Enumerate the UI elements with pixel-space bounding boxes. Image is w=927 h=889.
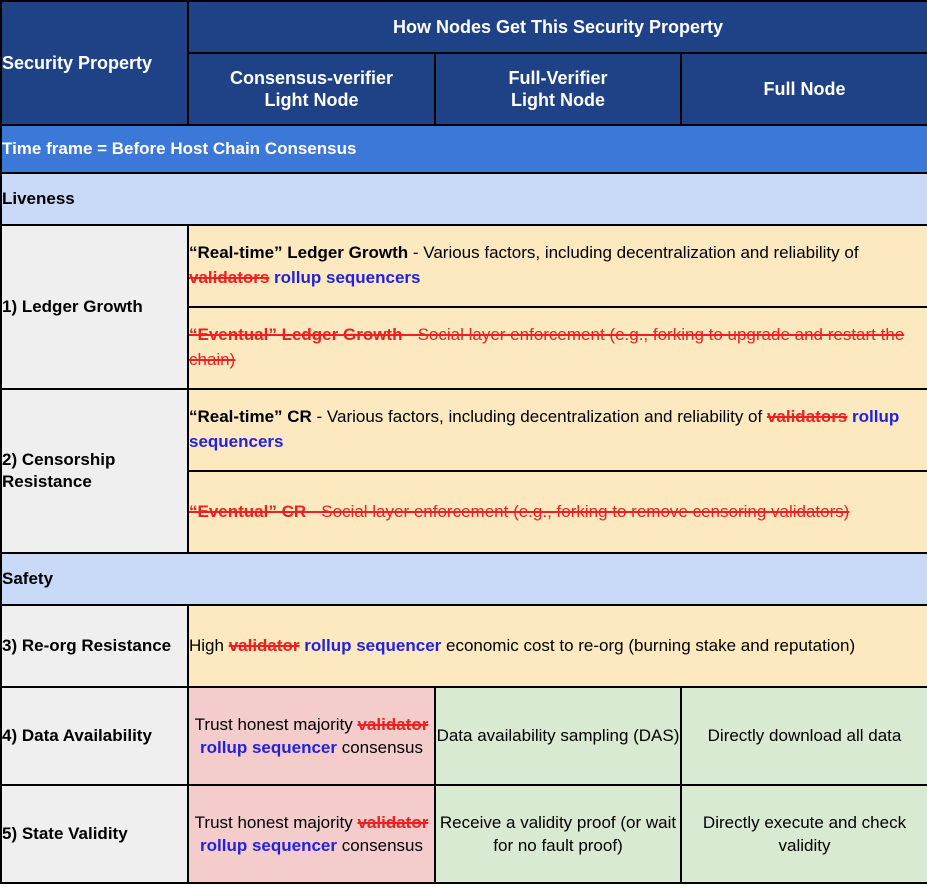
row-label-state-validity-text: 5) State Validity [2,824,128,843]
cell-censorship-eventual: “Eventual” CR - Social layer enforcement… [189,471,927,552]
band-safety-label: Safety [2,569,53,588]
row-label-data-availability-text: 4) Data Availability [2,726,152,745]
censorship-eventual-struck-block: “Eventual” CR - Social layer enforcement… [189,502,849,521]
band-row-timeframe: Time frame = Before Host Chain Consensus [1,125,927,173]
da-cv-post: consensus [337,738,423,757]
sv-cv-replacement: rollup sequencer [200,836,337,855]
table-row-state-validity: 5) State Validity Trust honest majority … [1,785,927,883]
header-col-full-node: Full Node [681,53,927,125]
ledger-growth-eventual-lead: “Eventual” Ledger Growth [189,325,402,344]
row-label-reorg-resistance: 3) Re-org Resistance [1,605,188,687]
table-row-ledger-growth: 1) Ledger Growth “Real-time” Ledger Grow… [1,225,927,389]
cell-ledger-growth-eventual: “Eventual” Ledger Growth - Social layer … [189,307,927,388]
header-col1-line2: Light Node [189,89,434,112]
band-timeframe: Time frame = Before Host Chain Consensus [1,125,927,173]
header-col2-line1: Full-Verifier [436,67,680,90]
header-security-property: Security Property [1,1,188,125]
row-label-ledger-growth-text: 1) Ledger Growth [2,297,143,316]
security-properties-table-root: Security Property How Nodes Get This Sec… [0,0,927,889]
reorg-post: economic cost to re-org (burning stake a… [441,636,855,655]
header-col1-line1: Consensus-verifier [189,67,434,90]
censorship-eventual-row: “Eventual” CR - Social layer enforcement… [189,471,927,552]
ledger-growth-realtime-lead: “Real-time” Ledger Growth [189,243,408,262]
cell-state-validity-full-node: Directly execute and check validity [681,785,927,883]
ledger-growth-realtime-replacement: rollup sequencers [274,268,420,287]
cell-state-validity-consensus-verifier: Trust honest majority validator rollup s… [188,785,435,883]
row-label-state-validity: 5) State Validity [1,785,188,883]
ledger-growth-eventual-struck-block: “Eventual” Ledger Growth - Social layer … [189,325,904,369]
table-row-reorg-resistance: 3) Re-org Resistance High validator roll… [1,605,927,687]
censorship-eventual-rest: - Social layer enforcement (e.g., forkin… [306,502,849,521]
ledger-growth-realtime-struck: validators [189,268,269,287]
table-row-censorship-resistance: 2) Censorship Resistance “Real-time” CR … [1,389,927,553]
cell-reorg-resistance-all-nodes: High validator rollup sequencer economic… [188,605,927,687]
row-label-data-availability: 4) Data Availability [1,687,188,785]
censorship-resistance-subtable: “Real-time” CR - Various factors, includ… [189,390,927,552]
header-col2-line2: Light Node [436,89,680,112]
band-liveness: Liveness [1,173,927,225]
cell-state-validity-full-verifier: Receive a validity proof (or wait for no… [435,785,681,883]
reorg-pre: High [189,636,229,655]
censorship-realtime-struck: validators [767,407,847,426]
cell-data-availability-full-verifier: Data availability sampling (DAS) [435,687,681,785]
cell-censorship-realtime: “Real-time” CR - Various factors, includ… [189,390,927,471]
censorship-realtime-lead: “Real-time” CR [189,407,312,426]
header-col-consensus-verifier-light-node: Consensus-verifier Light Node [188,53,435,125]
band-safety: Safety [1,553,927,605]
header-group-title-label: How Nodes Get This Security Property [393,17,723,37]
sv-cv-struck: validator [357,813,428,832]
band-liveness-label: Liveness [2,189,75,208]
cell-ledger-growth-realtime: “Real-time” Ledger Growth - Various fact… [189,226,927,307]
sv-cv-pre: Trust honest majority [195,813,358,832]
table-row-data-availability: 4) Data Availability Trust honest majori… [1,687,927,785]
reorg-replacement: rollup sequencer [304,636,441,655]
header-col-full-verifier-light-node: Full-Verifier Light Node [435,53,681,125]
da-cv-pre: Trust honest majority [195,715,358,734]
row-label-ledger-growth: 1) Ledger Growth [1,225,188,389]
ledger-growth-eventual-row: “Eventual” Ledger Growth - Social layer … [189,307,927,388]
security-properties-table: Security Property How Nodes Get This Sec… [0,0,927,884]
cell-ledger-growth-all-nodes: “Real-time” Ledger Growth - Various fact… [188,225,927,389]
cell-censorship-resistance-all-nodes: “Real-time” CR - Various factors, includ… [188,389,927,553]
header-security-property-label: Security Property [2,53,152,73]
row-label-reorg-resistance-text: 3) Re-org Resistance [2,636,171,655]
censorship-realtime-row: “Real-time” CR - Various factors, includ… [189,390,927,471]
ledger-growth-subtable: “Real-time” Ledger Growth - Various fact… [189,226,927,388]
ledger-growth-realtime-row: “Real-time” Ledger Growth - Various fact… [189,226,927,307]
row-label-censorship-resistance-text: 2) Censorship Resistance [2,450,115,491]
table-header-row-top: Security Property How Nodes Get This Sec… [1,1,927,53]
da-fv-text: Data availability sampling (DAS) [437,726,680,745]
sv-fv-text: Receive a validity proof (or wait for no… [440,813,676,855]
da-fn-text: Directly download all data [708,726,902,745]
band-row-liveness: Liveness [1,173,927,225]
da-cv-replacement: rollup sequencer [200,738,337,757]
header-col3-line1: Full Node [682,78,927,101]
band-timeframe-label: Time frame = Before Host Chain Consensus [2,139,356,158]
sv-cv-post: consensus [337,836,423,855]
censorship-eventual-lead: “Eventual” CR [189,502,306,521]
sv-fn-text: Directly execute and check validity [703,813,906,855]
ledger-growth-realtime-mid: - Various factors, including decentraliz… [408,243,858,262]
reorg-struck: validator [229,636,300,655]
cell-data-availability-consensus-verifier: Trust honest majority validator rollup s… [188,687,435,785]
band-row-safety: Safety [1,553,927,605]
cell-data-availability-full-node: Directly download all data [681,687,927,785]
header-group-title: How Nodes Get This Security Property [188,1,927,53]
da-cv-struck: validator [357,715,428,734]
censorship-realtime-mid: - Various factors, including decentraliz… [312,407,767,426]
row-label-censorship-resistance: 2) Censorship Resistance [1,389,188,553]
